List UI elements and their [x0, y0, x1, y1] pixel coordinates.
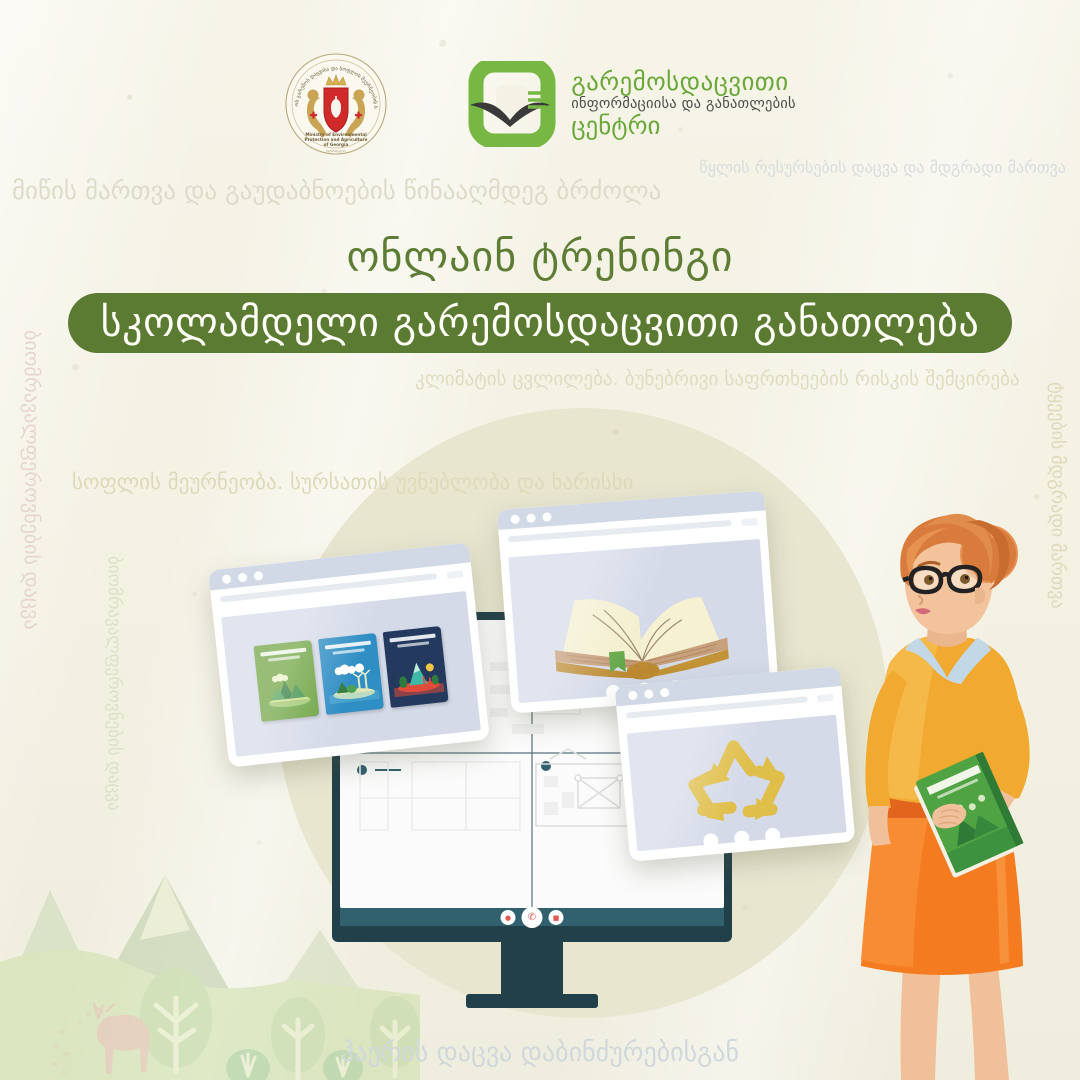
camera-off-button[interactable]: ■	[549, 910, 564, 925]
window-dot-icon	[222, 574, 232, 584]
video-call-controls[interactable]: ● ✆ ■	[501, 907, 564, 928]
ghost-text-vertical-left-outer: ბიომრავალფეროვნების დაცვა	[20, 330, 44, 630]
center-logo-line1: გარემოსდაცვითი	[571, 69, 796, 95]
title-headline: სკოლამდელი გარემოსდაცვითი განათლება	[101, 300, 980, 346]
header-logos: საქართველოს გარემოს დაცვისა და სოფლის მე…	[0, 52, 1080, 156]
poster-canvas: საქართველოს გარემოს დაცვისა და სოფლის მე…	[0, 0, 1080, 1080]
window-dot-icon	[644, 689, 654, 699]
browser-window-books[interactable]	[208, 542, 490, 767]
window-dot-icon	[660, 687, 670, 697]
window-dot-icon	[526, 513, 536, 523]
window-dot-icon	[510, 514, 520, 524]
dot-icon	[764, 827, 780, 843]
ghost-text-middle-2: სოფლის მეურნეობა. სურსათის უვნებლობა და …	[72, 470, 634, 494]
hang-up-button[interactable]: ✆	[522, 907, 543, 928]
svg-text:საქართველო: საქართველო	[326, 149, 346, 153]
window-dot-icon	[253, 570, 263, 580]
center-logo-line2: ინფორმაციისა და განათლების	[571, 97, 796, 112]
mic-off-button[interactable]: ●	[501, 910, 516, 925]
window-dot-icon	[237, 572, 247, 582]
window-viewport	[221, 591, 481, 757]
svg-text:of Georgia: of Georgia	[324, 142, 349, 147]
ministry-emblem: საქართველოს გარემოს დაცვისა და სოფლის მე…	[284, 52, 388, 156]
ghost-text-middle: კლიმატის ცვლილება. ბუნებრივი საფრთხეების…	[415, 368, 1020, 390]
dot-icon	[734, 830, 750, 846]
window-dot-icon	[542, 512, 552, 522]
ghost-text-vertical-left-inner: ბიომრავალფეროვნების დაცვა	[104, 556, 124, 811]
window-dot-icon	[628, 690, 638, 700]
monitor-stand-foot	[466, 994, 598, 1008]
url-action-button[interactable]	[741, 518, 757, 526]
center-logo-line3: ცენტრი	[571, 113, 796, 139]
title-kicker: ონლაინ ტრენინგი	[0, 232, 1080, 281]
title-headline-band: სკოლამდელი გარემოსდაცვითი განათლება	[68, 293, 1012, 353]
url-action-button[interactable]	[447, 570, 464, 579]
dot-icon	[703, 833, 719, 849]
open-book-in-letter-c-icon	[466, 61, 558, 147]
ghost-text-top-left: მიწის მართვა და გაუდაბნოების წინააღმდეგ …	[12, 176, 661, 205]
monitor-stand-neck	[501, 942, 563, 998]
ghost-text-top-right: წყლის რესურსების დაცვა და მდგრადი მართვა	[699, 158, 1066, 177]
center-logo: გარემოსდაცვითი ინფორმაციისა და განათლები…	[466, 61, 796, 147]
woman-teacher	[815, 510, 1080, 1080]
